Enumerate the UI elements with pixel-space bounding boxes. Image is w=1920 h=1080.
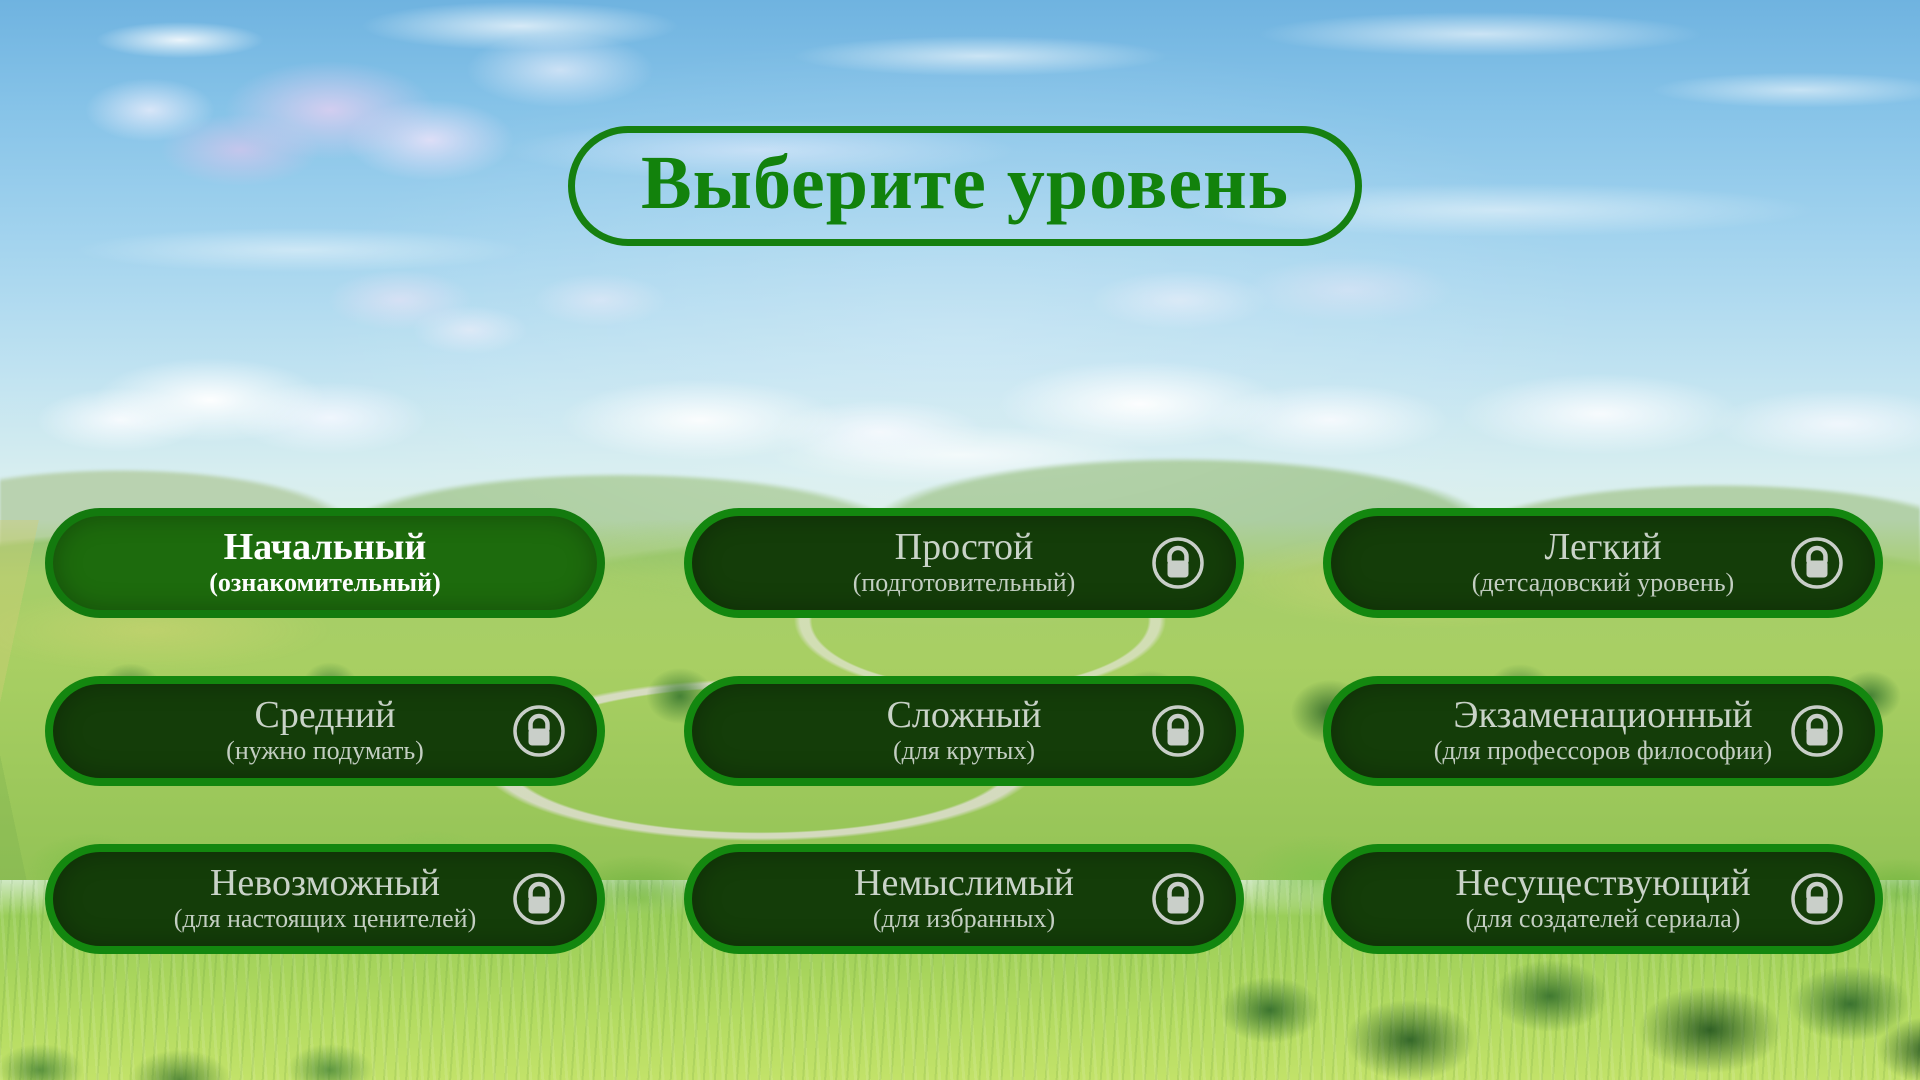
page-title: Выберите уровень bbox=[641, 145, 1289, 227]
level-button[interactable]: Средний(нужно подумать) bbox=[45, 676, 605, 786]
level-subtitle: (ознакомительный) bbox=[209, 568, 441, 598]
level-subtitle: (для настоящих ценителей) bbox=[174, 904, 477, 934]
page-title-banner: Выберите уровень bbox=[568, 126, 1362, 246]
level-name: Невозможный bbox=[210, 864, 440, 903]
level-button[interactable]: Начальный(ознакомительный) bbox=[45, 508, 605, 618]
lock-icon bbox=[1789, 871, 1845, 927]
level-subtitle: (для профессоров философии) bbox=[1434, 736, 1772, 766]
level-subtitle: (для крутых) bbox=[893, 736, 1035, 766]
level-subtitle: (для избранных) bbox=[873, 904, 1055, 934]
lock-icon bbox=[1150, 535, 1206, 591]
level-subtitle: (нужно подумать) bbox=[226, 736, 424, 766]
level-name: Легкий bbox=[1544, 528, 1661, 567]
level-button[interactable]: Сложный(для крутых) bbox=[684, 676, 1244, 786]
lock-icon bbox=[511, 871, 567, 927]
level-grid: Начальный(ознакомительный)Простой(подгот… bbox=[45, 508, 1883, 954]
level-name: Немыслимый bbox=[854, 864, 1074, 903]
level-name: Начальный bbox=[224, 528, 427, 567]
level-name: Экзаменационный bbox=[1453, 696, 1752, 735]
lock-icon bbox=[511, 703, 567, 759]
level-button[interactable]: Невозможный(для настоящих ценителей) bbox=[45, 844, 605, 954]
level-select-screen: Выберите уровень Начальный(ознакомительн… bbox=[0, 0, 1920, 1080]
level-button[interactable]: Экзаменационный(для профессоров философи… bbox=[1323, 676, 1883, 786]
level-name: Средний bbox=[254, 696, 395, 735]
level-button[interactable]: Легкий(детсадовский уровень) bbox=[1323, 508, 1883, 618]
level-subtitle: (подготовительный) bbox=[853, 568, 1076, 598]
lock-icon bbox=[1789, 535, 1845, 591]
level-subtitle: (для создателей сериала) bbox=[1466, 904, 1741, 934]
level-button[interactable]: Немыслимый(для избранных) bbox=[684, 844, 1244, 954]
level-button[interactable]: Несуществующий(для создателей сериала) bbox=[1323, 844, 1883, 954]
level-name: Сложный bbox=[887, 696, 1042, 735]
level-name: Простой bbox=[895, 528, 1034, 567]
level-button[interactable]: Простой(подготовительный) bbox=[684, 508, 1244, 618]
level-name: Несуществующий bbox=[1455, 864, 1750, 903]
lock-icon bbox=[1150, 871, 1206, 927]
lock-icon bbox=[1150, 703, 1206, 759]
lock-icon bbox=[1789, 703, 1845, 759]
level-subtitle: (детсадовский уровень) bbox=[1472, 568, 1734, 598]
